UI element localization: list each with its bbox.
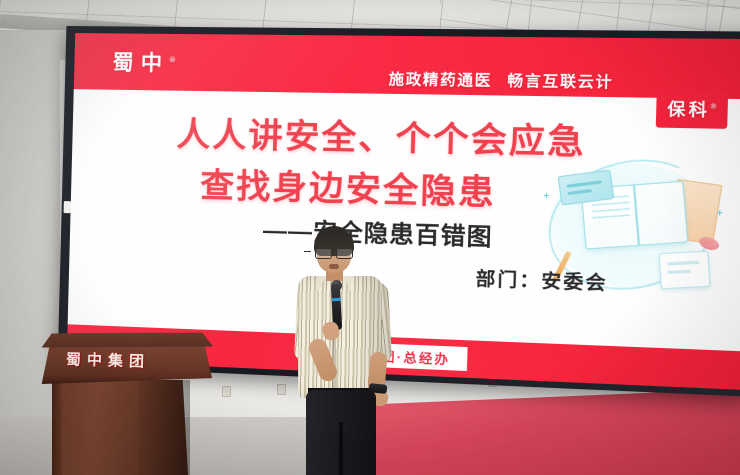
slide-top-bar: 蜀中® 施政精药通医畅言互联云计 [74, 33, 740, 99]
registered-mark-icon: ® [710, 103, 716, 112]
slogan-right: 畅言互联云计 [507, 74, 613, 92]
slide-slogan: 施政精药通医畅言互联云计 [388, 68, 613, 93]
lectern-podium: 蜀中集团 [38, 330, 213, 475]
podium-shadow [138, 380, 190, 475]
glasses-bridge [304, 251, 311, 252]
brand-logo: 蜀中® [112, 46, 176, 77]
sparkle-icon [717, 210, 723, 215]
podium-edge [52, 378, 62, 475]
speaker-person [288, 226, 396, 475]
slogan-left: 施政精药通医 [388, 72, 492, 90]
corner-brand-text: 保科 [667, 101, 711, 120]
wall-outlet [277, 384, 286, 395]
trouser-leg-gap [339, 422, 343, 475]
wristwatch [369, 383, 388, 394]
shirt-collar-right [343, 276, 351, 292]
brand-logo-text: 蜀中 [112, 50, 169, 75]
shirt-collar-left [318, 276, 326, 292]
sparkle-icon [544, 193, 550, 198]
podium-sign-text: 蜀中集团 [66, 348, 187, 372]
presentation-photo-scene: 蜀中® 施政精药通医畅言互联云计 保科® [0, 0, 740, 475]
slide-department-label: 部门：安委会 [475, 264, 608, 296]
microphone-indicator [332, 298, 341, 301]
mouth [329, 264, 339, 269]
registered-mark-icon: ® [169, 55, 175, 64]
corner-brand-badge: 保科® [655, 89, 728, 129]
glasses-icon [315, 248, 353, 257]
wall-outlet [222, 386, 231, 397]
bezel-clip-left [64, 201, 71, 213]
